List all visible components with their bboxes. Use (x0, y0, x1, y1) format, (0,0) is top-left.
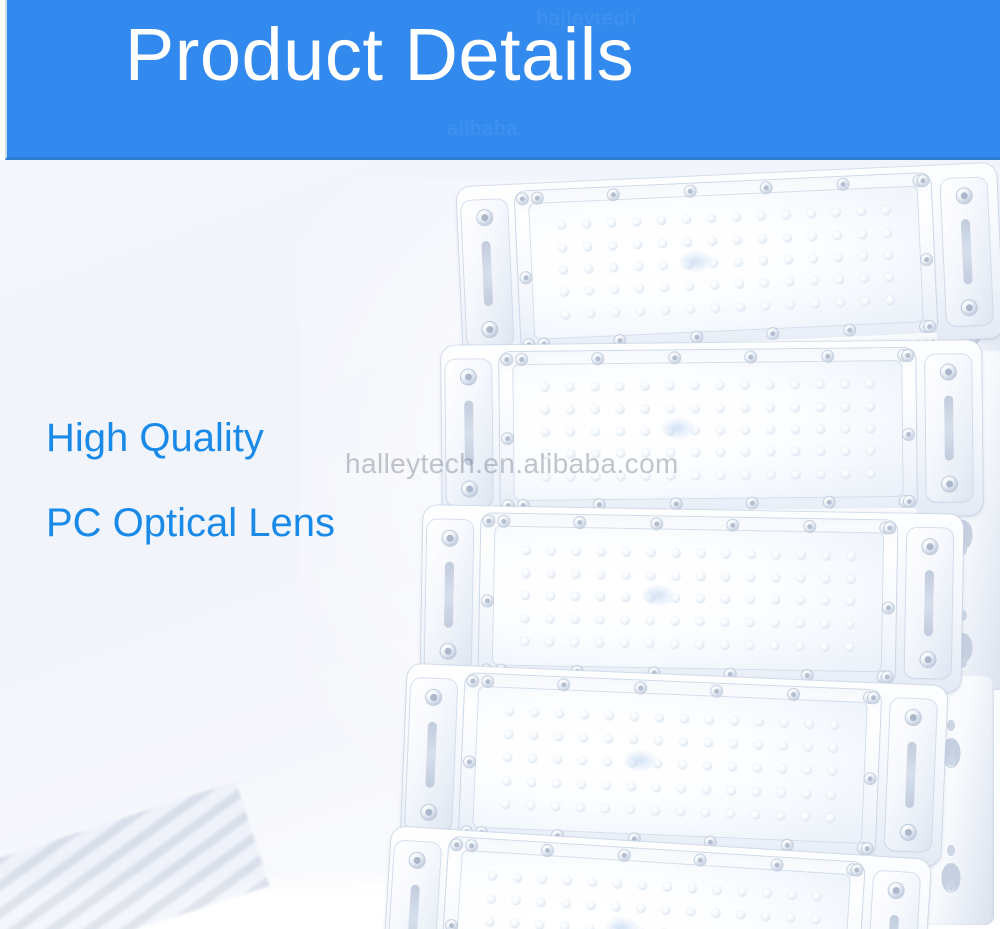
led-lens-dome (576, 803, 585, 812)
bezel-screw-bottom (781, 840, 792, 851)
bracket-screw (477, 210, 493, 226)
led-lens-dome (538, 874, 548, 884)
product-image (400, 155, 1000, 915)
led-lens-dome (745, 641, 754, 650)
bracket-adjustment-slot (924, 570, 934, 636)
led-lens-dome (828, 767, 837, 776)
led-lens-dome (780, 718, 789, 727)
led-lens-dome (510, 919, 520, 929)
module-mounting-bracket-left (445, 359, 493, 506)
led-lens-dome (733, 235, 742, 244)
led-lens-dome (627, 782, 636, 791)
led-lens-dome (691, 449, 700, 458)
bezel-screw-side (921, 253, 932, 264)
led-lens-dome (634, 262, 643, 271)
led-lens-dome (559, 265, 568, 274)
led-lens-dome (610, 926, 620, 929)
led-lens-dome (565, 382, 574, 391)
led-lens-dome (761, 301, 770, 310)
led-lens-dome (595, 639, 604, 648)
led-lens-dome (835, 275, 844, 284)
led-lens-dome (884, 251, 893, 260)
led-lens-dome (791, 448, 800, 457)
led-lens-dome (529, 708, 538, 717)
led-lens-dome (846, 620, 855, 629)
led-lens-dome (829, 744, 838, 753)
led-lens-dome (754, 741, 763, 750)
led-lens-dome (842, 469, 851, 478)
led-lens-array (492, 699, 848, 830)
led-lens-dome (767, 470, 776, 479)
led-lens-dome (847, 574, 856, 583)
bracket-screw (442, 530, 457, 545)
led-lens-dome (713, 885, 723, 895)
banner-ghost-watermark-bottom: alibaba (447, 118, 519, 141)
bezel-screw-bottom (844, 324, 855, 335)
bracket-adjustment-slot (425, 721, 437, 788)
led-lens-dome (585, 924, 595, 929)
led-lens-dome (842, 447, 851, 456)
lens-bezel-frame (479, 513, 898, 684)
led-lens-dome (846, 643, 855, 652)
led-lens-dome (691, 471, 700, 480)
bezel-screw-top (482, 676, 493, 687)
led-lens-dome (501, 800, 510, 809)
led-lens-dome (728, 763, 737, 772)
led-lens-dome (661, 306, 670, 315)
bezel-screw-top (804, 521, 815, 532)
led-lens-dome (771, 619, 780, 628)
led-lens-dome (595, 616, 604, 625)
light-module (456, 163, 1000, 362)
bracket-screw (901, 825, 917, 841)
led-lens-dome (791, 380, 800, 389)
led-lens-dome (586, 901, 596, 911)
page-title: Product Details (7, 16, 1000, 94)
lens-bezel-frame (459, 673, 882, 856)
led-lens-dome (816, 447, 825, 456)
bracket-screw (462, 481, 477, 496)
led-lens-dome (585, 287, 594, 296)
led-lens-dome (571, 569, 580, 578)
bezel-screw-bottom (691, 331, 702, 342)
led-lens-dome (680, 714, 689, 723)
led-lens-dome (866, 424, 875, 433)
led-lens-dome (622, 547, 631, 556)
led-lens-dome (611, 308, 620, 317)
led-lens-dome (671, 571, 680, 580)
led-lens-dome (641, 472, 650, 481)
led-lens-dome (779, 742, 788, 751)
led-lens-dome (715, 381, 724, 390)
led-lens-dome (822, 574, 831, 583)
led-lens-dome (621, 570, 630, 579)
led-lens-dome (646, 571, 655, 580)
led-lens-dome (807, 209, 816, 218)
bezel-screw-bottom (767, 328, 778, 339)
led-lens-dome (647, 548, 656, 557)
led-lens-dome (686, 305, 695, 314)
led-lens-dome (577, 780, 586, 789)
led-lens-dome (820, 643, 829, 652)
led-lens-dome (746, 595, 755, 604)
led-lens-dome (741, 448, 750, 457)
led-lens-dome (801, 812, 810, 821)
led-lens-dome (540, 405, 549, 414)
led-lens-dome (546, 569, 555, 578)
led-lens-dome (811, 915, 821, 925)
led-lens-dome (771, 596, 780, 605)
bezel-screw-side (467, 675, 478, 686)
led-lens-dome (616, 427, 625, 436)
led-lens-dome (626, 805, 635, 814)
led-lens-array (473, 864, 831, 929)
bezel-screw-top (516, 354, 527, 365)
led-lens-dome (632, 217, 641, 226)
led-lens-dome (520, 637, 529, 646)
feature-line-1: High Quality (46, 418, 264, 458)
led-lens-dome (611, 902, 621, 912)
led-lens-dome (553, 755, 562, 764)
pc-optical-lens (453, 850, 851, 929)
led-lens-dome (488, 871, 498, 881)
bezel-screw-side (883, 602, 894, 613)
bracket-adjustment-slot (944, 396, 954, 461)
bezel-screw-side (924, 321, 935, 332)
led-lens-dome (816, 380, 825, 389)
led-lens-dome (832, 208, 841, 217)
led-lens-dome (601, 804, 610, 813)
led-lens-dome (834, 253, 843, 262)
bezel-screw-top (635, 682, 646, 693)
led-lens-dome (657, 216, 666, 225)
bracket-screw (941, 365, 956, 380)
led-lens-dome (529, 731, 538, 740)
led-lens-dome (570, 615, 579, 624)
led-lens-dome (786, 913, 796, 923)
led-lens-dome (846, 597, 855, 606)
led-lens-dome (620, 616, 629, 625)
led-lens-dome (886, 295, 895, 304)
led-lens-dome (666, 449, 675, 458)
led-lens-dome (784, 255, 793, 264)
bezel-screw-side (482, 595, 493, 606)
pc-optical-lens (492, 526, 884, 673)
rail-mounting-hole (947, 880, 955, 891)
led-lens-dome (791, 425, 800, 434)
led-lens-dome (578, 756, 587, 765)
led-lens-dome (615, 404, 624, 413)
led-lens-dome (746, 618, 755, 627)
led-lens-dome (795, 642, 804, 651)
led-lens-dome (691, 404, 700, 413)
led-lens-dome (816, 425, 825, 434)
led-lens-dome (833, 230, 842, 239)
led-lens-dome (857, 207, 866, 216)
led-lens-dome (782, 210, 791, 219)
led-lens-dome (766, 380, 775, 389)
led-lens-dome (608, 241, 617, 250)
led-lens-dome (671, 594, 680, 603)
led-lens-dome (541, 450, 550, 459)
led-lens-dome (736, 910, 746, 920)
bezel-screw-side (517, 193, 528, 204)
led-lens-dome (811, 299, 820, 308)
led-lens-dome (847, 551, 856, 560)
led-lens-dome (727, 786, 736, 795)
led-lens-dome (704, 738, 713, 747)
module-mounting-bracket-left (405, 678, 457, 831)
bracket-adjustment-slot (407, 884, 420, 929)
led-lens-dome (613, 879, 623, 889)
bezel-screw-bottom (670, 498, 681, 509)
led-lens-dome (836, 298, 845, 307)
led-lens-dome (665, 381, 674, 390)
led-lens-dome (654, 736, 663, 745)
bracket-screw (426, 690, 442, 706)
led-lens-dome (653, 760, 662, 769)
led-lens-dome (503, 730, 512, 739)
led-lens-dome (561, 899, 571, 909)
led-lens-dome (808, 232, 817, 241)
led-lens-dome (566, 450, 575, 459)
bracket-screw (461, 370, 476, 385)
led-lens-dome (658, 238, 667, 247)
header-banner: halleytech Product Details alibaba (5, 0, 1000, 160)
led-lens-dome (747, 550, 756, 559)
bezel-screw-top (788, 689, 799, 700)
led-lens-dome (741, 403, 750, 412)
led-lens-dome (641, 427, 650, 436)
bezel-screw-top (498, 516, 509, 527)
led-lens-array (532, 373, 884, 489)
led-lens-dome (672, 548, 681, 557)
led-lens-dome (580, 710, 589, 719)
led-lens-dome (551, 802, 560, 811)
led-lens-dome (783, 233, 792, 242)
led-lens-dome (486, 894, 496, 904)
led-lens-dome (804, 743, 813, 752)
led-lens-dome (797, 550, 806, 559)
pc-optical-lens (472, 686, 868, 844)
led-lens-dome (827, 790, 836, 799)
module-mounting-bracket-left (386, 841, 441, 929)
led-lens-dome (636, 307, 645, 316)
led-lens-dome (803, 766, 812, 775)
bracket-screw (421, 804, 437, 820)
led-lens-dome (663, 882, 673, 892)
led-lens-dome (629, 735, 638, 744)
led-lens-dome (867, 447, 876, 456)
led-lens-dome (696, 572, 705, 581)
led-lens-dome (552, 779, 561, 788)
led-lens-dome (621, 593, 630, 602)
bezel-screw-side (451, 839, 463, 851)
led-lens-dome (571, 592, 580, 601)
led-lens-dome (591, 450, 600, 459)
led-lens-dome (628, 759, 637, 768)
bezel-screw-top (822, 351, 833, 362)
bezel-screw-bottom (747, 498, 758, 509)
led-lens-dome (660, 283, 669, 292)
led-lens-dome (690, 381, 699, 390)
bezel-screw-top (531, 192, 542, 203)
led-lens-dome (638, 881, 648, 891)
led-lens-dome (591, 427, 600, 436)
led-lens-dome (610, 286, 619, 295)
led-lens-dome (528, 754, 537, 763)
led-lens-dome (677, 784, 686, 793)
led-lens-dome (816, 402, 825, 411)
bracket-adjustment-slot (905, 741, 917, 808)
led-lens-dome (859, 252, 868, 261)
led-lens-dome (540, 383, 549, 392)
led-lens-dome (655, 713, 664, 722)
led-lens-dome (711, 303, 720, 312)
led-lens-dome (766, 403, 775, 412)
led-lens-dome (540, 428, 549, 437)
pc-optical-lens (512, 360, 903, 501)
led-lens-dome (520, 591, 529, 600)
led-lens-dome (641, 404, 650, 413)
bracket-adjustment-slot (481, 241, 493, 306)
led-lens-dome (841, 380, 850, 389)
led-lens-dome (716, 448, 725, 457)
led-lens-dome (751, 810, 760, 819)
led-lens-dome (710, 281, 719, 290)
led-lens-dome (716, 426, 725, 435)
led-lens-dome (666, 471, 675, 480)
rail-mounting-hole (947, 720, 955, 731)
bezel-screw-top (684, 185, 695, 196)
led-lens-dome (586, 309, 595, 318)
led-lens-dome (866, 379, 875, 388)
led-lens-dome (602, 781, 611, 790)
led-lens-dome (796, 596, 805, 605)
led-lens-dome (555, 709, 564, 718)
led-lens-dome (721, 595, 730, 604)
led-lens-dome (684, 260, 693, 269)
led-lens-dome (766, 425, 775, 434)
led-lens-dome (720, 641, 729, 650)
light-module (420, 505, 963, 692)
led-lens-dome (821, 597, 830, 606)
led-lens-dome (556, 220, 565, 229)
led-lens-dome (566, 472, 575, 481)
led-lens-dome (526, 801, 535, 810)
led-lens-dome (520, 614, 529, 623)
bezel-screw-top (669, 352, 680, 363)
led-lens-dome (760, 279, 769, 288)
led-lens-dome (659, 261, 668, 270)
lens-bezel-frame (515, 173, 938, 353)
bezel-screw-side (902, 350, 913, 361)
led-lens-dome (866, 402, 875, 411)
led-lens-dome (596, 593, 605, 602)
led-lens-dome (591, 472, 600, 481)
led-lens-dome (563, 876, 573, 886)
led-lens-dome (636, 904, 646, 914)
bezel-screw-side (868, 692, 879, 703)
led-lens-dome (666, 426, 675, 435)
led-lens-dome (502, 777, 511, 786)
led-lens-dome (777, 788, 786, 797)
led-lens-dome (810, 276, 819, 285)
bezel-screw-side (501, 354, 512, 365)
led-lens-dome (630, 712, 639, 721)
bracket-screw (956, 188, 972, 204)
led-lens-dome (645, 617, 654, 626)
led-lens-dome (604, 734, 613, 743)
led-lens-dome (521, 569, 530, 578)
lens-bezel-frame (499, 348, 917, 513)
bracket-adjustment-slot (961, 219, 973, 284)
led-lens-dome (511, 896, 521, 906)
bezel-screw-side (903, 428, 914, 439)
led-lens-dome (571, 546, 580, 555)
led-lens-dome (679, 737, 688, 746)
bracket-screw (905, 710, 921, 726)
led-lens-dome (755, 717, 764, 726)
led-lens-dome (707, 214, 716, 223)
led-lens-dome (696, 618, 705, 627)
led-lens-dome (758, 234, 767, 243)
bezel-screw-bottom (824, 497, 835, 508)
led-lens-dome (502, 753, 511, 762)
led-lens-dome (830, 720, 839, 729)
led-lens-dome (590, 382, 599, 391)
bezel-screw-side (904, 496, 915, 507)
bracket-screw (409, 852, 425, 868)
led-lens-dome (746, 572, 755, 581)
rail-mounting-hole (947, 755, 955, 766)
led-lens-dome (841, 425, 850, 434)
bezel-screw-side (520, 272, 531, 283)
led-lens-dome (735, 280, 744, 289)
led-lens-dome (536, 898, 546, 908)
led-lens-dome (661, 905, 671, 915)
module-mounting-bracket-right (925, 354, 973, 501)
module-mounting-bracket-right (905, 528, 954, 678)
module-mounting-bracket-left (461, 199, 514, 348)
led-lens-dome (882, 206, 891, 215)
led-lens-dome (792, 470, 801, 479)
led-lens-dome (645, 640, 654, 649)
led-lens-dome (682, 215, 691, 224)
bracket-adjustment-slot (444, 562, 454, 628)
led-lens-dome (761, 912, 771, 922)
led-lens-dome (705, 715, 714, 724)
bezel-screw-side (864, 773, 875, 784)
led-lens-dome (796, 619, 805, 628)
led-lens-dome (738, 887, 748, 897)
led-lens-dome (716, 403, 725, 412)
bezel-screw-side (851, 864, 863, 876)
bezel-screw-side (861, 843, 872, 854)
led-lens-dome (772, 573, 781, 582)
led-lens-dome (633, 240, 642, 249)
led-lens-dome (805, 719, 814, 728)
led-lens-dome (596, 547, 605, 556)
led-lens-dome (741, 426, 750, 435)
led-lens-dome (513, 873, 523, 883)
led-lens-dome (588, 878, 598, 888)
bracket-adjustment-slot (464, 401, 474, 466)
module-mounting-bracket-right (940, 177, 993, 326)
led-lens-dome (821, 620, 830, 629)
led-lens-dome (732, 213, 741, 222)
led-lens-dome (609, 263, 618, 272)
